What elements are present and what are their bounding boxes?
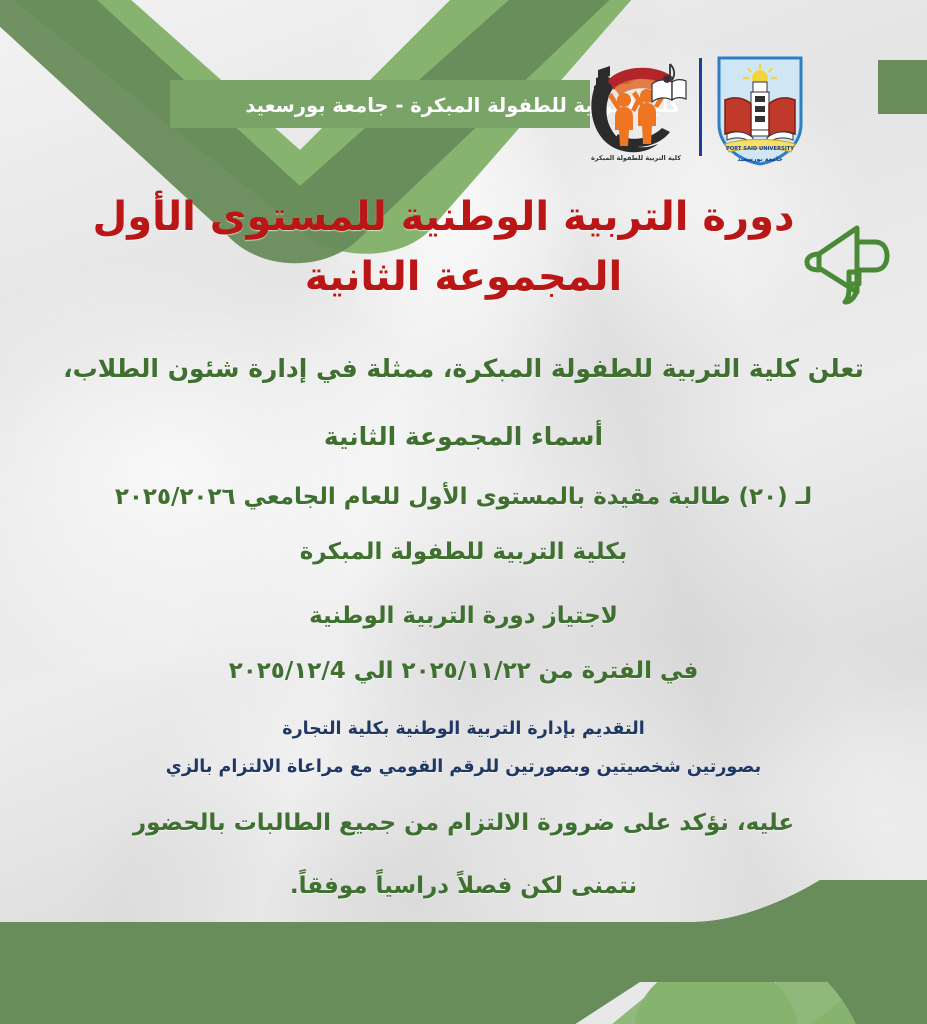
- attendance-line: عليه، نؤكد على ضرورة الالتزام من جميع ال…: [0, 807, 927, 840]
- header-band-label: كلية التربية للطفولة المبكرة - جامعة بور…: [337, 84, 589, 126]
- count-line: لـ (٢٠) طالبة مقيدة بالمستوى الأول للعام…: [0, 481, 927, 514]
- megaphone-icon: [799, 212, 909, 308]
- closing-line: نتمنى لكن فصلاً دراسياً موفقاً.: [0, 870, 927, 903]
- period-line: في الفترة من ٢٠٢٥/١١/٢٢ الي ٢٠٢٥/١٢/4: [0, 655, 927, 688]
- logo-divider: [699, 58, 702, 156]
- faculty-logo: كلية التربية للطفولة المبكرة: [584, 54, 688, 164]
- requirements-line: بصورتين شخصيتين وبصورتين للرقم القومي مع…: [0, 754, 927, 781]
- university-logo-en-text: PORT SAID UNIVERSITY: [726, 146, 794, 152]
- title-line-2: المجموعة الثانية: [0, 250, 927, 304]
- submission-line: التقديم بإدارة التربية الوطنية بكلية الت…: [0, 716, 927, 743]
- faculty-logo-caption: كلية التربية للطفولة المبكرة: [591, 154, 681, 162]
- intro-line: تعلن كلية التربية للطفولة المبكرة، ممثلة…: [0, 350, 927, 388]
- university-logo-ar-text: جامعة بورسعيد: [737, 156, 782, 163]
- poster-root: كلية التربية للطفولة المبكرة - جامعة بور…: [0, 0, 927, 1024]
- poster-content: دورة التربية الوطنية للمستوى الأول المجم…: [0, 190, 927, 903]
- faculty-logo-book: [652, 80, 686, 102]
- faculty-line: بكلية التربية للطفولة المبكرة: [0, 536, 927, 569]
- purpose-line: لاجتياز دورة التربية الوطنية: [0, 600, 927, 633]
- university-logo: PORT SAID UNIVERSITY جامعة بورسعيد: [711, 52, 809, 168]
- title-line-1: دورة التربية الوطنية للمستوى الأول: [0, 190, 927, 244]
- names-heading: أسماء المجموعة الثانية: [0, 418, 927, 456]
